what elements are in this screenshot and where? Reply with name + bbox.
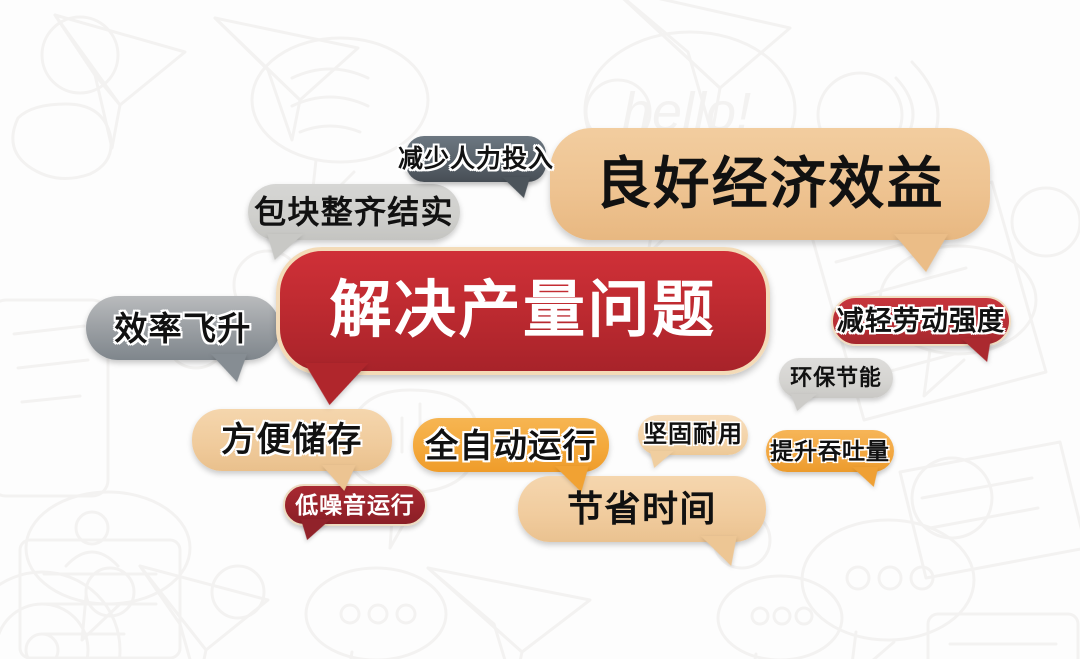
circle-doodle	[86, 568, 134, 616]
bubble-save-time[interactable]: 节省时间	[518, 476, 766, 542]
bubble-tail	[787, 394, 817, 411]
three-dots-bubble-doodle	[802, 520, 974, 659]
paper-plane-doodle	[140, 566, 268, 659]
bubble-eco-energy-saving[interactable]: 环保节能	[779, 358, 893, 398]
bubble-tail	[261, 234, 303, 260]
bubble-label: 节省时间	[567, 491, 717, 527]
bubble-tail	[296, 363, 369, 405]
bubble-package-neat[interactable]: 包块整齐结实	[248, 184, 460, 240]
speech-bubble-doodle	[13, 104, 111, 179]
bubble-label: 效率飞升	[114, 312, 251, 345]
bubble-reduce-labor[interactable]: 减少人力投入	[406, 136, 546, 182]
bubble-label: 减少人力投入	[398, 147, 554, 172]
person-bubble-doodle	[26, 492, 190, 640]
circle-doodle	[212, 566, 264, 618]
bubble-efficiency-soars[interactable]: 效率飞升	[86, 296, 280, 360]
three-dots-bubble-doodle	[306, 568, 446, 659]
bubble-tail	[322, 465, 361, 491]
bubble-tail	[297, 519, 331, 540]
bubble-tail	[961, 338, 995, 362]
circle-doodle	[42, 17, 118, 93]
bubble-tail	[701, 536, 743, 566]
paper-plane-doodle	[612, 0, 790, 134]
bubble-reduce-labor-intensity[interactable]: 减轻劳动强度	[831, 296, 1011, 346]
bubble-fully-automatic-operation[interactable]: 全自动运行	[413, 418, 609, 472]
bubble-label: 环保节能	[790, 367, 882, 389]
document-doodle	[928, 614, 1078, 659]
bubble-tail	[211, 354, 253, 382]
target-doodle	[0, 572, 134, 659]
bubble-increase-throughput[interactable]: 提升吞吐量	[766, 430, 894, 472]
bubble-label: 提升吞吐量	[770, 440, 890, 463]
bubble-label: 方便储存	[221, 423, 362, 457]
paper-plane-doodle	[215, 18, 358, 140]
circle-doodle	[912, 458, 992, 538]
bubble-convenient-storage[interactable]: 方便储存	[192, 409, 392, 471]
bubble-label: 良好经济效益	[595, 156, 944, 212]
bubble-tail	[894, 234, 956, 272]
poster-canvas: hello!	[0, 0, 1080, 659]
circle-doodle	[1012, 188, 1080, 256]
bubble-solve-output-problem[interactable]: 解决产量问题	[276, 247, 770, 375]
bubble-label: 低噪音运行	[295, 494, 415, 517]
bubble-tail	[502, 177, 534, 198]
three-dots-bubble-doodle	[718, 576, 842, 659]
bubble-tail	[852, 467, 882, 487]
bubble-label: 解决产量问题	[330, 280, 717, 342]
bubble-label: 包块整齐结实	[254, 196, 454, 228]
bubble-tail	[646, 451, 674, 468]
bubble-label: 减轻劳动强度	[837, 308, 1005, 335]
paper-plane-doodle	[55, 15, 185, 148]
bubble-label: 全自动运行	[425, 429, 597, 462]
bubble-sturdy-durable[interactable]: 坚固耐用	[638, 415, 748, 455]
bubble-label: 坚固耐用	[643, 423, 743, 447]
paper-plane-doodle	[428, 568, 590, 659]
document-doodle	[900, 442, 1080, 578]
document-doodle	[20, 540, 180, 658]
bubble-good-economic-benefit[interactable]: 良好经济效益	[550, 128, 990, 240]
